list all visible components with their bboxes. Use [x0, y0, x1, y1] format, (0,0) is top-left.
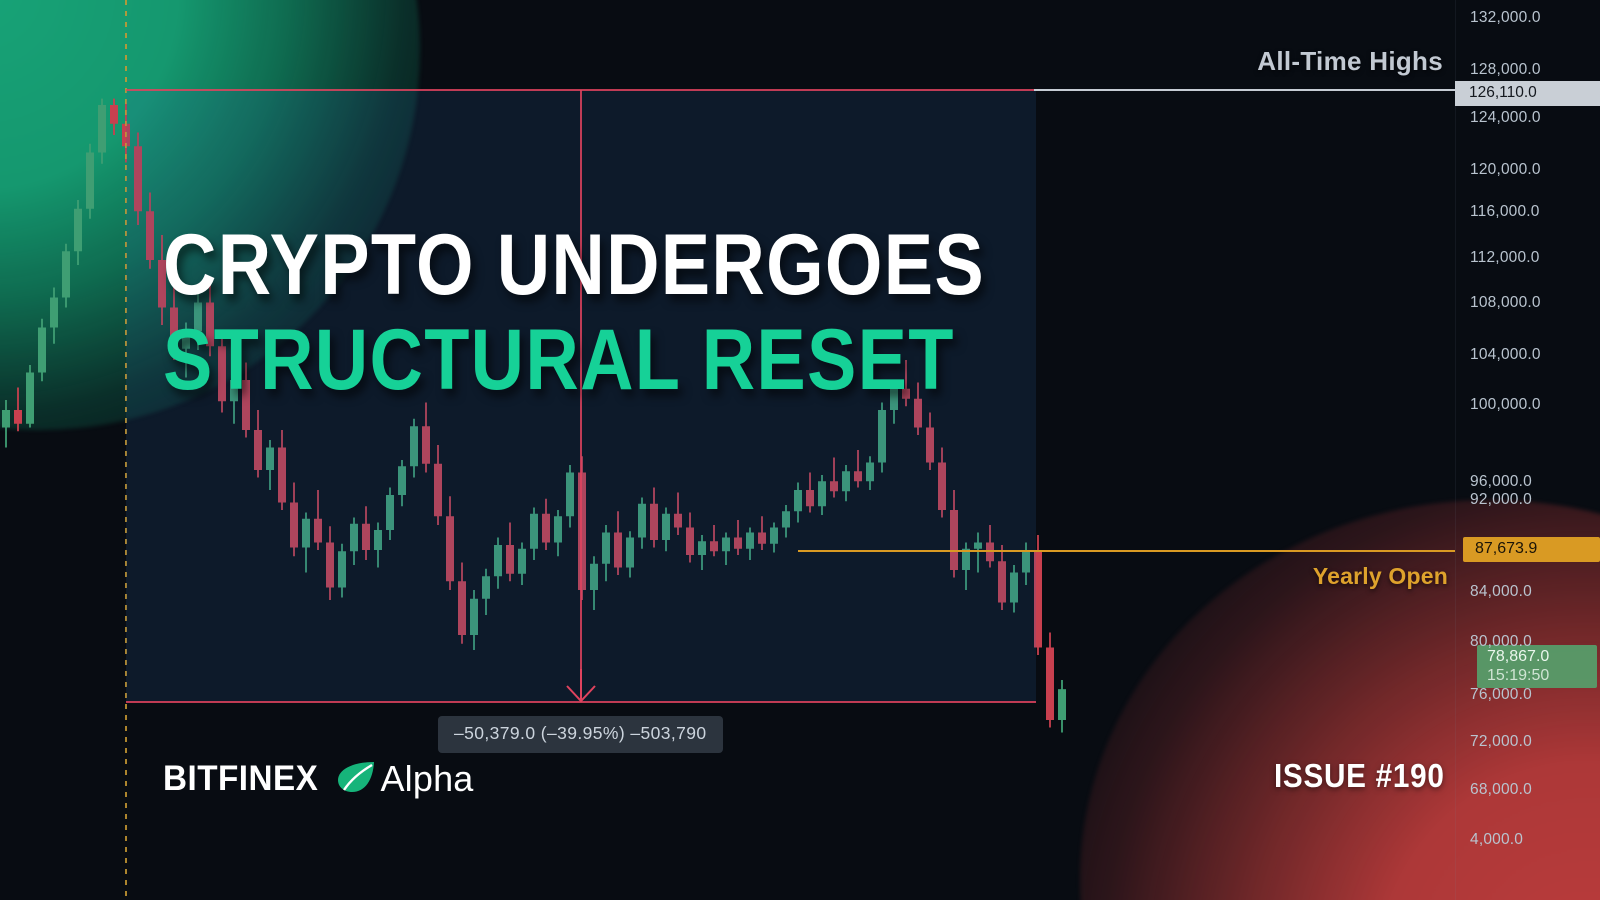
candlestick [170, 288, 178, 361]
all-time-highs-price-badge: 126,110.0 [1455, 81, 1600, 106]
candlestick [590, 556, 598, 610]
price-tick: 128,000.0 [1470, 61, 1541, 79]
yearly-open-label: Yearly Open [1313, 563, 1448, 590]
candlestick [494, 538, 502, 589]
leaf-icon [336, 760, 376, 799]
measurement-vertical-line [580, 90, 582, 702]
candlestick [782, 505, 790, 538]
candlestick [158, 235, 166, 325]
price-tick: 104,000.0 [1470, 346, 1541, 364]
candlestick [1010, 565, 1018, 613]
candlestick [698, 535, 706, 570]
candlestick [254, 410, 262, 478]
candlestick [398, 460, 406, 506]
candlestick [662, 508, 670, 552]
candlestick [194, 294, 202, 350]
price-tick: 72,000.0 [1470, 733, 1532, 751]
price-axis[interactable]: 126,110.0 87,673.9 78,867.0 15:19:50 132… [1455, 0, 1600, 900]
candlestick [362, 506, 370, 560]
candlestick [74, 200, 82, 265]
candlestick [518, 543, 526, 586]
candlestick [530, 508, 538, 561]
year-separator-line [125, 0, 127, 900]
candlestick [422, 403, 430, 473]
price-tick: 84,000.0 [1470, 583, 1532, 601]
candlestick [758, 516, 766, 550]
candlestick [806, 473, 814, 513]
candlestick [1022, 543, 1030, 586]
candlestick [278, 430, 286, 510]
candlestick [350, 518, 358, 566]
candlestick [14, 388, 22, 432]
candlestick [566, 465, 574, 528]
price-tick: 124,000.0 [1470, 109, 1541, 127]
all-time-highs-label: All-Time Highs [1257, 46, 1443, 77]
candlestick [110, 99, 118, 135]
candlestick [374, 523, 382, 568]
bitfinex-wordmark: BITFINEX [163, 759, 318, 799]
yearly-open-line [798, 550, 1455, 552]
candlestick [50, 288, 58, 344]
price-tick: 132,000.0 [1470, 9, 1541, 27]
candlestick [218, 333, 226, 413]
candlestick [134, 133, 142, 226]
candlestick [410, 419, 418, 478]
candlestick [482, 569, 490, 615]
candlestick [2, 400, 10, 448]
candlestick [614, 511, 622, 575]
price-tick: 76,000.0 [1470, 686, 1532, 704]
candlestick [974, 533, 982, 573]
alpha-wordmark: Alpha [380, 758, 473, 800]
candlestick [734, 520, 742, 555]
candlestick [854, 450, 862, 488]
candlestick [506, 523, 514, 582]
price-tick: 108,000.0 [1470, 294, 1541, 312]
candlestick [602, 525, 610, 581]
candlestick [650, 488, 658, 548]
candlestick [242, 363, 250, 438]
candlestick [746, 528, 754, 561]
candlestick [710, 525, 718, 556]
candlestick [770, 523, 778, 553]
candlestick [818, 475, 826, 515]
issue-number: ISSUE #190 [1274, 757, 1445, 795]
price-tick: 100,000.0 [1470, 396, 1541, 414]
measurement-readout-label: –50,379.0 (–39.95%) –503,790 [438, 716, 723, 753]
candlestick [470, 590, 478, 650]
last-price-badge: 78,867.0 15:19:50 [1477, 645, 1597, 688]
candlestick [830, 458, 838, 498]
candlestick [206, 285, 214, 356]
candlestick [890, 380, 898, 424]
candlestick [926, 413, 934, 471]
bitfinex-alpha-logo: BITFINEX Alpha [163, 757, 474, 801]
candlestick [146, 193, 154, 269]
candlestick [950, 490, 958, 578]
candlestick [338, 544, 346, 598]
candlestick [722, 533, 730, 566]
candlestick [98, 99, 106, 164]
price-tick: 112,000.0 [1470, 249, 1540, 267]
price-tick: 92,000.0 [1470, 491, 1532, 509]
candlestick [86, 144, 94, 219]
candlestick [446, 496, 454, 590]
candlestick [794, 483, 802, 523]
price-tick: 68,000.0 [1470, 781, 1532, 799]
yearly-open-price-badge: 87,673.9 [1463, 537, 1600, 562]
candlestick [554, 510, 562, 556]
all-time-highs-line [1034, 89, 1455, 91]
candlestick [26, 365, 34, 428]
candlestick [938, 448, 946, 518]
candlestick [302, 513, 310, 573]
candlestick [674, 493, 682, 536]
candlestick [182, 323, 190, 378]
price-tick: 80,000.0 [1470, 633, 1532, 651]
price-tick: 120,000.0 [1470, 161, 1541, 179]
price-tick: 96,000.0 [1470, 473, 1532, 491]
candlestick [386, 488, 394, 541]
price-tick: 116,000.0 [1470, 203, 1540, 221]
candlestick [842, 465, 850, 501]
candlestick [878, 403, 886, 473]
candlestick [314, 490, 322, 550]
candlestick [326, 526, 334, 600]
candlestick [902, 360, 910, 406]
candlestick [434, 445, 442, 525]
candlestick [290, 483, 298, 557]
candlestick [686, 513, 694, 563]
candlestick [266, 440, 274, 490]
candlestick [62, 244, 70, 308]
last-price-countdown: 15:19:50 [1487, 666, 1597, 685]
price-tick: 4,000.0 [1470, 831, 1523, 849]
candlestick [38, 319, 46, 382]
candlestick [1046, 633, 1054, 728]
candlestick [626, 531, 634, 577]
candlestick [914, 383, 922, 436]
candlestick [458, 563, 466, 644]
newsletter-cover: –50,379.0 (–39.95%) –503,790 All-Time Hi… [0, 0, 1600, 900]
candlestick [1034, 535, 1042, 655]
candlestick [866, 456, 874, 490]
candlestick [1058, 680, 1066, 733]
candlestick [638, 498, 646, 549]
candlestick [230, 369, 238, 424]
candlestick [986, 525, 994, 568]
candlestick [998, 545, 1006, 610]
candlestick [542, 499, 550, 550]
